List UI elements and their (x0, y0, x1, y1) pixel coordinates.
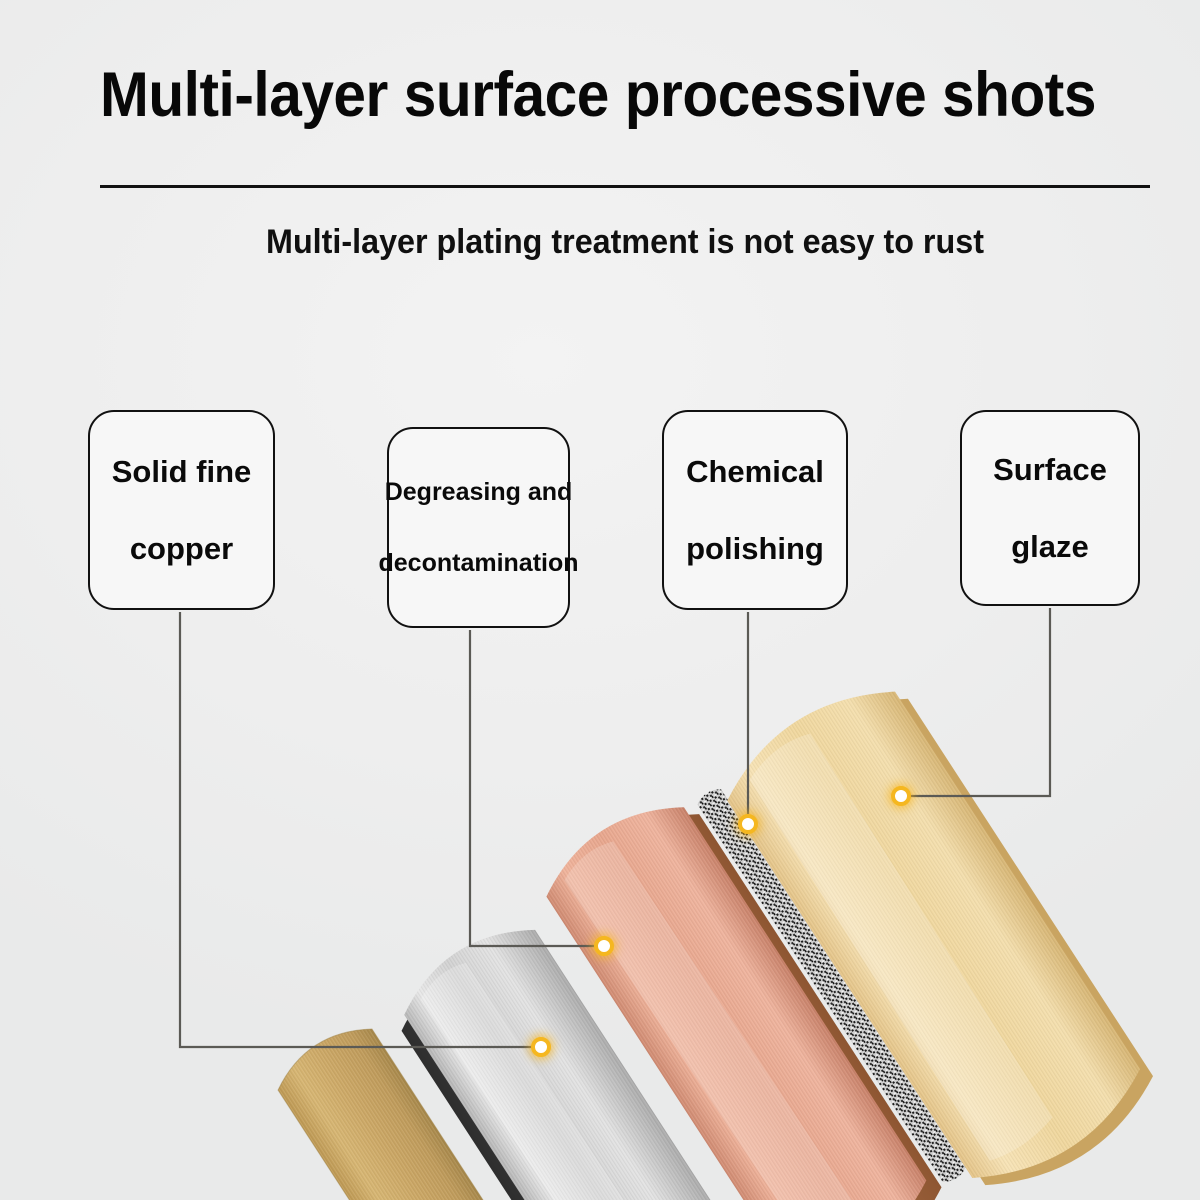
callout-line-1: Chemical (686, 456, 824, 487)
callout-line-2: polishing (686, 533, 824, 564)
callout-line-2: glaze (1011, 531, 1089, 562)
callout-line-2: copper (130, 533, 233, 564)
callout-line-1: Degreasing and (385, 480, 573, 505)
hotspot-dot-surface-glaze[interactable] (891, 786, 911, 806)
hotspot-dot-chemical-polishing[interactable] (738, 814, 758, 834)
callout-surface-glaze[interactable]: Surface glaze (960, 410, 1140, 606)
callout-degreasing-and-decontamination[interactable]: Degreasing and decontamination (387, 427, 570, 628)
callout-line-1: Solid fine (112, 456, 252, 487)
callout-line-1: Surface (993, 454, 1107, 485)
callout-line-2: decontamination (379, 551, 579, 576)
callout-solid-fine-copper[interactable]: Solid fine copper (88, 410, 275, 610)
infographic-page: Multi-layer surface processive shots Mul… (0, 0, 1200, 1200)
hotspot-dot-degreasing-and-decontamination[interactable] (594, 936, 614, 956)
hotspot-dot-solid-fine-copper[interactable] (531, 1037, 551, 1057)
callout-chemical-polishing[interactable]: Chemical polishing (662, 410, 848, 610)
